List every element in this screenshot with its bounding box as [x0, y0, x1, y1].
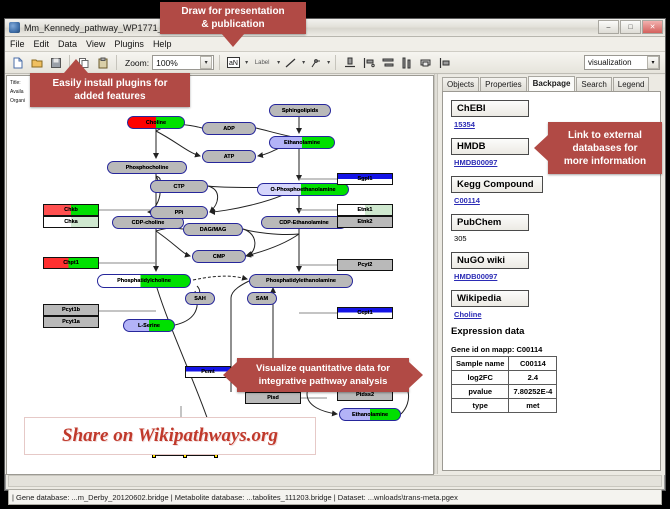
callout-plugins-line2: added features [74, 90, 145, 103]
gene-node-chpt1[interactable]: Chpt1 [43, 257, 99, 269]
table-cell-key: log2FC [452, 371, 509, 385]
menu-bar: File Edit Data View Plugins Help [5, 37, 665, 52]
tab-backpage[interactable]: Backpage [528, 76, 576, 91]
callout-link-line1: Link to external [568, 129, 642, 142]
node-label: ADP [223, 126, 235, 132]
gene-node-chkb[interactable]: Chkb [43, 204, 99, 216]
tab-search[interactable]: Search [576, 77, 611, 91]
gene-node-cept1[interactable]: Cept1 [337, 307, 393, 319]
gene-node-etnk1[interactable]: Etnk1 [337, 204, 393, 216]
distribute-horizontal-icon[interactable] [398, 54, 415, 71]
node-label: Pcyt1b [62, 307, 80, 313]
metabolite-node-adp[interactable]: ADP [202, 122, 256, 135]
node-label: Sphingolipids [282, 108, 318, 114]
table-cell-value: 7.80252E-4 [509, 385, 557, 399]
backpage-heading-pubchem: PubChem [451, 214, 529, 231]
tab-objects[interactable]: Objects [442, 77, 479, 91]
metabolite-node-phosphocholine[interactable]: Phosphocholine [107, 161, 187, 174]
node-label: Pcyt2 [358, 262, 373, 268]
backpage-heading-hmdb: HMDB [451, 138, 529, 155]
tab-properties[interactable]: Properties [480, 77, 526, 91]
backpage-link-kegg[interactable]: C00114 [454, 196, 652, 205]
node-label: PPi [175, 210, 184, 216]
menu-item-help[interactable]: Help [153, 39, 172, 49]
table-cell-key: type [452, 399, 509, 413]
backpage-link-wikipedia[interactable]: Choline [454, 310, 652, 319]
window-controls[interactable]: – □ ✕ [598, 20, 663, 34]
menu-item-plugins[interactable]: Plugins [114, 39, 144, 49]
table-row: pvalue 7.80252E-4 [452, 385, 557, 399]
zoom-label: Zoom: [125, 58, 149, 68]
node-label: Ptdss2 [356, 392, 374, 398]
chevron-down-icon-visualization[interactable]: ▾ [647, 56, 659, 69]
node-label: Chkb [64, 207, 78, 213]
new-file-icon[interactable] [9, 54, 26, 71]
node-label: CDP-choline [132, 220, 165, 226]
backpage-heading-chebi: ChEBI [451, 100, 529, 117]
open-folder-icon[interactable] [28, 54, 45, 71]
node-label: Pemt [201, 369, 214, 375]
metabolite-node-cmp[interactable]: CMP [192, 250, 246, 263]
callout-plugins-line1: Easily install plugins for [52, 77, 167, 90]
metabolite-node-dagmag[interactable]: DAG/MAG [183, 223, 243, 236]
visualization-value: visualization [588, 58, 632, 67]
node-label: CMP [213, 254, 225, 260]
node-label: Phosphocholine [126, 165, 169, 171]
svg-text:aN: aN [229, 60, 238, 67]
toolbar-separator-2 [116, 55, 117, 70]
metabolite-node-o-phosphoethanolamine[interactable]: O-Phosphoethanolamine [257, 183, 349, 196]
paste-icon[interactable] [94, 54, 111, 71]
node-label: Sgpl1 [358, 176, 373, 182]
data-node-icon[interactable]: aN [225, 54, 242, 71]
gene-node-etnk2[interactable]: Etnk2 [337, 216, 393, 228]
order-icon[interactable] [436, 54, 453, 71]
table-row: type met [452, 399, 557, 413]
metabolite-node-phosphatidylcholine[interactable]: Phosphatidylcholine [97, 274, 191, 288]
node-label: L-Serine [138, 323, 160, 329]
node-label: O-Phosphoethanolamine [270, 187, 335, 193]
backpage-heading-wikipedia: Wikipedia [451, 290, 529, 307]
callout-draw-arrow-icon [221, 33, 245, 47]
gene-node-chka[interactable]: Chka [43, 216, 99, 228]
table-cell-value: met [509, 399, 557, 413]
metabolite-node-atp[interactable]: ATP [202, 150, 256, 163]
node-label: SAM [256, 296, 268, 302]
metabolite-node-ctp[interactable]: CTP [150, 180, 208, 193]
node-label: Phosphatidylcholine [117, 278, 171, 284]
metabolite-node-l-serine-left[interactable]: L-Serine [123, 319, 175, 332]
node-label: Pcyt1a [62, 319, 80, 325]
gene-node-pcyt1a[interactable]: Pcyt1a [43, 316, 99, 328]
chevron-down-icon-line[interactable]: ▾ [302, 59, 305, 66]
zoom-control[interactable]: Zoom: 100% ▾ [125, 55, 214, 70]
callout-draw: Draw for presentation & publication [160, 2, 306, 34]
status-bar: | Gene database: ...m_Derby_20120602.bri… [8, 489, 662, 505]
node-label: SAH [194, 296, 206, 302]
expression-data-table: Sample name C00114 log2FC 2.4 pvalue 7.8… [451, 356, 557, 413]
label-icon[interactable]: Label [250, 54, 274, 71]
node-label: Choline [146, 120, 166, 126]
table-cell-value: C00114 [509, 357, 557, 371]
side-panel-tabs: Objects Properties Backpage Search Legen… [438, 75, 665, 91]
backpage-heading-nugo: NuGO wiki [451, 252, 529, 269]
metabolite-node-ppi[interactable]: PPi [150, 206, 208, 219]
anchor-line-icon[interactable] [307, 54, 324, 71]
metabolite-node-sah[interactable]: SAH [185, 292, 215, 305]
node-label: Ethanolamine [352, 412, 388, 418]
callout-link-line3: more information [564, 155, 646, 168]
group-icon[interactable] [417, 54, 434, 71]
align-bottom-icon[interactable] [341, 54, 358, 71]
callout-draw-line1: Draw for presentation [181, 5, 284, 18]
gene-node-pisd[interactable]: Pisd [245, 392, 301, 404]
save-icon[interactable] [47, 54, 64, 71]
status-bar-text: | Gene database: ...m_Derby_20120602.bri… [12, 493, 458, 502]
menu-item-view[interactable]: View [86, 39, 105, 49]
metabolite-node-cdp-ethanolamine[interactable]: CDP-Ethanolamine [261, 216, 347, 229]
callout-visualize-arrow-left-icon [223, 362, 237, 388]
callout-visualize: Visualize quantitative data for integrat… [237, 358, 409, 392]
callout-plugins-arrow-icon [64, 59, 88, 73]
backpage-heading-kegg: Kegg Compound [451, 176, 543, 193]
table-cell-value: 2.4 [509, 371, 557, 385]
table-cell-key: pvalue [452, 385, 509, 399]
gene-node-sgpl1[interactable]: Sgpl1 [337, 173, 393, 185]
node-label: Chpt1 [63, 260, 79, 266]
chevron-down-icon-label[interactable]: ▾ [277, 59, 280, 66]
backpage-link-nugo[interactable]: HMDB00097 [454, 272, 652, 281]
callout-plugins: Easily install plugins for added feature… [30, 73, 190, 107]
metabolite-node-ethanolamine[interactable]: Ethanolamine [269, 136, 335, 149]
menu-item-edit[interactable]: Edit [34, 39, 50, 49]
callout-link-arrow-icon [534, 135, 548, 161]
node-label: Chka [64, 219, 77, 225]
menu-item-data[interactable]: Data [58, 39, 77, 49]
visualization-combobox[interactable]: visualization ▾ [584, 55, 660, 70]
tab-legend[interactable]: Legend [613, 77, 650, 91]
align-left-icon[interactable] [360, 54, 377, 71]
metabolite-node-choline-top[interactable]: Choline [127, 116, 185, 129]
metabolite-node-sphingolipids[interactable]: Sphingolipids [269, 104, 331, 117]
line-icon[interactable] [282, 54, 299, 71]
callout-draw-line2: & publication [201, 18, 264, 31]
table-row: Sample name C00114 [452, 357, 557, 371]
title-bar: Mm_Kennedy_pathway_WP1771_45176.gpml – □… [5, 19, 665, 37]
node-label: DAG/MAG [200, 227, 227, 233]
share-banner-text: Share on Wikipathways.org [62, 425, 278, 447]
share-banner: Share on Wikipathways.org [24, 417, 316, 455]
node-label: CTP [174, 184, 185, 190]
app-icon [9, 22, 20, 33]
node-label: Phosphatidylethanolamine [266, 278, 336, 284]
toolbar-separator-4 [335, 55, 336, 70]
callout-link-line2: databases for [572, 142, 637, 155]
screenshot-root: Mm_Kennedy_pathway_WP1771_45176.gpml – □… [0, 0, 670, 509]
node-label: CDP-Ethanolamine [279, 220, 329, 226]
node-label: Etnk1 [358, 207, 373, 213]
gene-id-line: Gene id on mapp: C00114 [451, 345, 652, 354]
chevron-down-icon-anchor[interactable]: ▾ [327, 59, 330, 66]
toolbar-separator-3 [219, 55, 220, 70]
menu-item-file[interactable]: File [10, 39, 25, 49]
node-label: ATP [224, 154, 235, 160]
zoom-value: 100% [156, 58, 178, 68]
status-strip [8, 475, 662, 487]
table-row: log2FC 2.4 [452, 371, 557, 385]
node-label: Ethanolamine [284, 140, 320, 146]
close-button[interactable]: ✕ [642, 20, 663, 34]
zoom-combobox[interactable]: 100% ▾ [152, 55, 214, 70]
pathway-canvas[interactable]: Title: Availa Organi [6, 75, 434, 475]
chevron-down-icon[interactable]: ▾ [200, 56, 212, 69]
callout-visualize-line1: Visualize quantitative data for [256, 362, 390, 375]
toolbar: Zoom: 100% ▾ aN ▾ Label ▾ ▾ ▾ [5, 52, 665, 74]
expression-data-title: Expression data [451, 326, 652, 337]
maximize-button[interactable]: □ [620, 20, 641, 34]
table-cell-key: Sample name [452, 357, 509, 371]
callout-visualize-arrow-right-icon [409, 362, 423, 388]
metabolite-node-sam[interactable]: SAM [247, 292, 277, 305]
node-label: Etnk2 [358, 219, 373, 225]
backpage-value-pubchem: 305 [454, 234, 652, 243]
minimize-button[interactable]: – [598, 20, 619, 34]
metabolite-node-phosphatidylethanolamine[interactable]: Phosphatidylethanolamine [249, 274, 353, 288]
gene-node-pcyt1b[interactable]: Pcyt1b [43, 304, 99, 316]
metabolite-node-ethanolamine-bottom[interactable]: Ethanolamine [339, 408, 401, 421]
callout-visualize-line2: integrative pathway analysis [259, 375, 388, 388]
node-label: Pisd [267, 395, 279, 401]
chevron-down-icon-datanode[interactable]: ▾ [245, 59, 248, 66]
distribute-vertical-icon[interactable] [379, 54, 396, 71]
node-label: Cept1 [357, 310, 372, 316]
gene-node-pcyt2[interactable]: Pcyt2 [337, 259, 393, 271]
callout-link: Link to external databases for more info… [548, 122, 662, 174]
